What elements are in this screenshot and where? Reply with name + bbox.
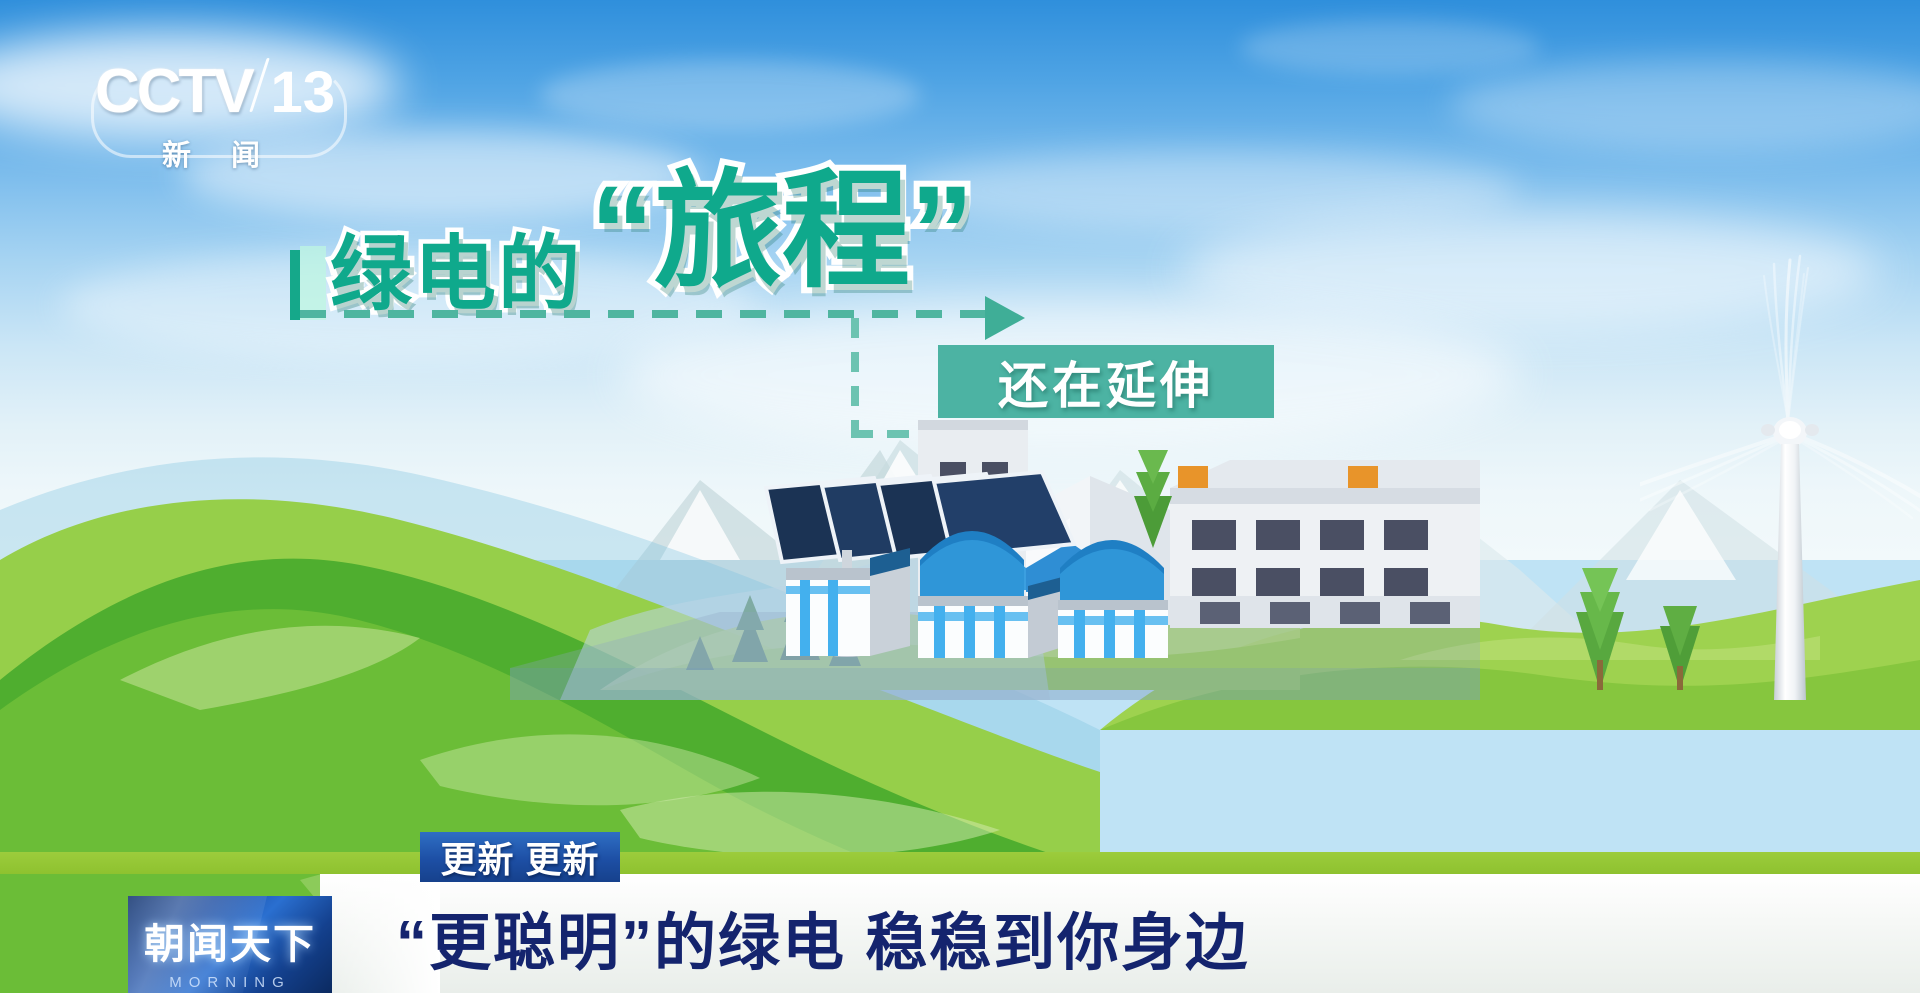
update-tag-label: 更新 更新: [440, 831, 599, 883]
pine-tree: [1118, 438, 1188, 548]
update-tag: 更新 更新: [420, 832, 620, 882]
headline-text: “更聪明”的绿电 稳稳到你身边: [396, 884, 1726, 989]
program-logo: 朝闻天下 MORNING NEWS: [128, 896, 332, 993]
industrial-facility: [470, 400, 1530, 700]
channel-logo: CCTV 13 新 闻: [95, 58, 335, 168]
logo-slash-icon: [249, 58, 269, 112]
title-quoted: “旅程”: [590, 168, 974, 296]
wind-turbine: [1640, 200, 1920, 700]
program-name-cn: 朝闻天下: [128, 910, 332, 970]
title-accent-glow: [300, 246, 326, 320]
title-prefix: 绿电的: [330, 234, 582, 316]
broadcast-screenshot: CCTV 13 新 闻 绿电的 “旅程” 还在延伸: [0, 0, 1920, 993]
cloud: [540, 60, 920, 130]
lower-third-green-strip: [0, 852, 1920, 874]
dashed-arrow-line: [300, 310, 990, 318]
arrow-head-icon: [985, 296, 1025, 340]
cloud: [1240, 20, 1540, 75]
channel-number: 13: [270, 59, 335, 126]
program-name-en: MORNING NEWS: [128, 974, 332, 993]
cctv-wordmark: CCTV: [95, 61, 252, 123]
title-accent-bar: [290, 250, 300, 320]
